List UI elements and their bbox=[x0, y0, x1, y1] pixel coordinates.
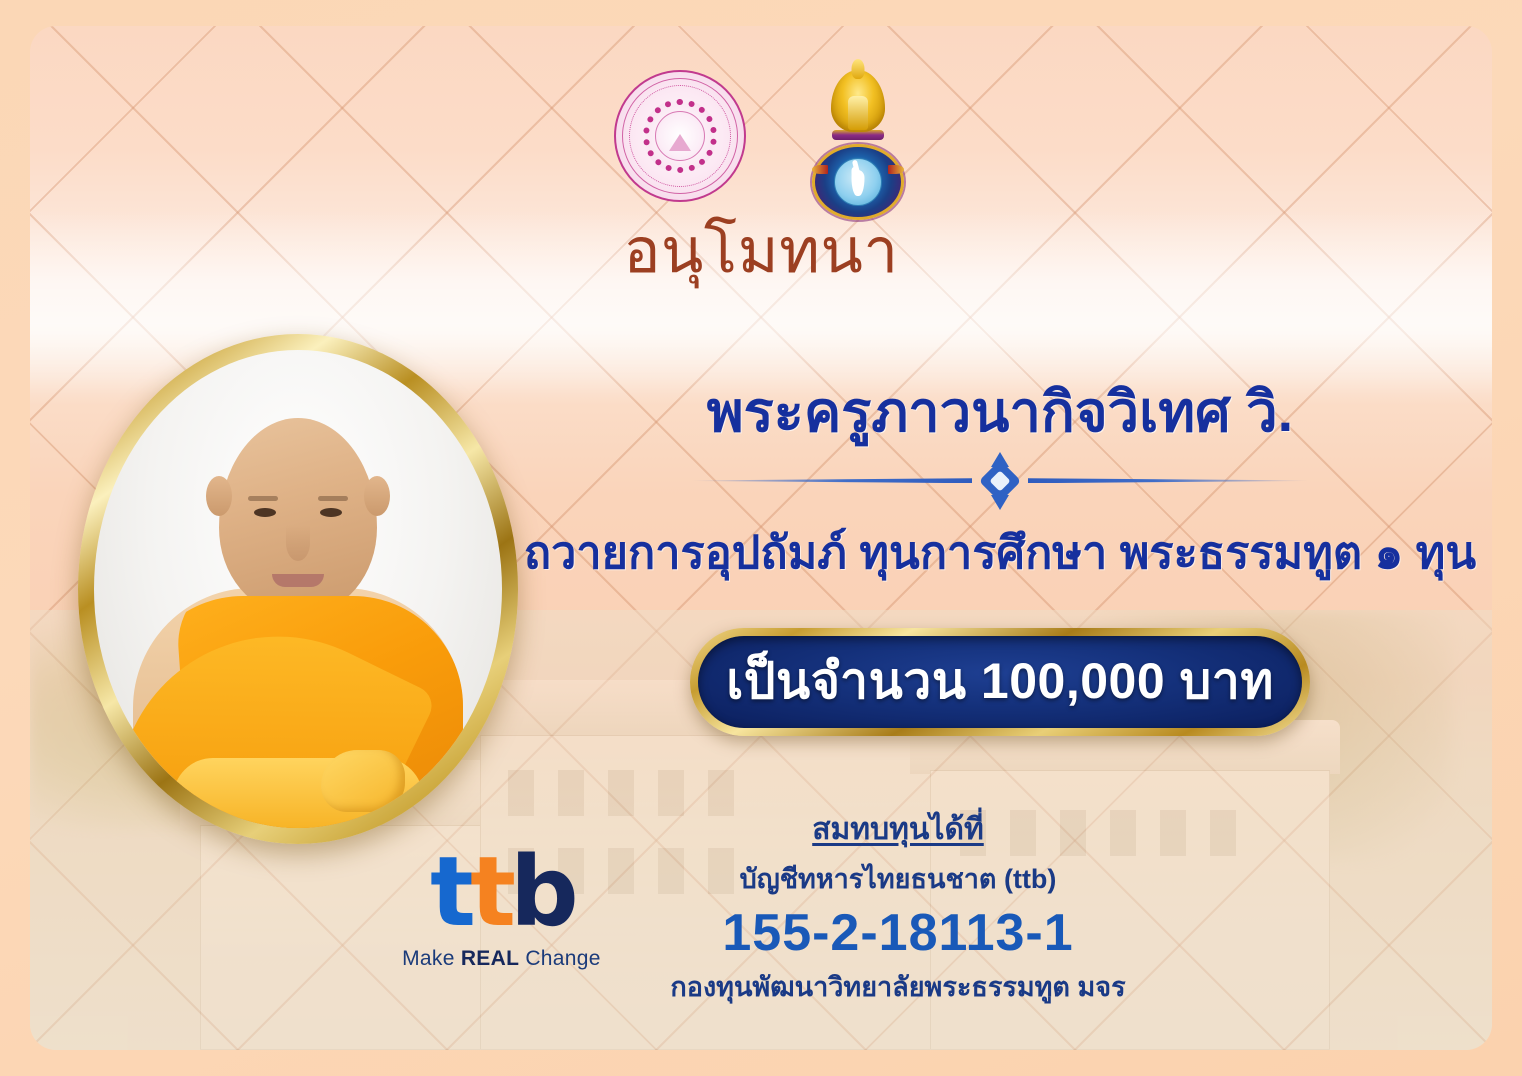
ornamental-divider bbox=[500, 458, 1492, 504]
donation-details: สมทบทุนได้ที่ บัญชีทหารไทยธนชาต (ttb) 15… bbox=[670, 806, 1125, 1008]
honoree-name: พระครูภาวนากิจวิเทศ วิ. bbox=[500, 381, 1492, 444]
amount-badge-inner: เป็นจำนวน 100,000 บาท bbox=[698, 636, 1302, 728]
citation-column: พระครูภาวนากิจวิเทศ วิ. ถวายการอุปถัมภ์ … bbox=[500, 381, 1492, 736]
amount-text: เป็นจำนวน 100,000 บาท bbox=[726, 642, 1274, 721]
ttb-bank-logo: ttb Make REAL Change bbox=[396, 843, 606, 971]
donation-footer: ttb Make REAL Change สมทบทุนได้ที่ บัญชี… bbox=[30, 806, 1492, 1008]
monk-portrait bbox=[78, 334, 518, 844]
mcu-university-seal-icon bbox=[614, 70, 746, 202]
ttb-tagline-real: REAL bbox=[461, 947, 519, 970]
mcu-seal-core bbox=[655, 111, 705, 161]
ttb-letter-t1: t bbox=[430, 836, 470, 948]
emblem-core bbox=[834, 158, 882, 206]
emblem-wing-left bbox=[812, 165, 828, 174]
swan-icon bbox=[852, 170, 865, 196]
divider-diamond-icon bbox=[978, 453, 1022, 509]
portrait-photo bbox=[94, 350, 502, 828]
account-number: 155-2-18113-1 bbox=[670, 906, 1125, 961]
ttb-wordmark: ttb bbox=[396, 849, 606, 935]
certificate-poster: อนุโมทนา bbox=[0, 0, 1522, 1076]
ttb-tagline-change: Change bbox=[519, 947, 601, 970]
dhammaduta-college-emblem-icon bbox=[808, 70, 908, 220]
poster-card: อนุโมทนา bbox=[30, 26, 1492, 1050]
bank-name: บัญชีทหารไทยธนชาต (ttb) bbox=[670, 857, 1125, 900]
mcu-seal-inner-ring bbox=[643, 99, 717, 173]
divider-line-left bbox=[692, 478, 972, 483]
emblem-row bbox=[30, 70, 1492, 220]
mcu-seal-ring-text bbox=[616, 72, 744, 200]
amount-badge: เป็นจำนวน 100,000 บาท bbox=[690, 628, 1310, 736]
divider-line-right bbox=[1028, 478, 1308, 483]
ttb-tagline: Make REAL Change bbox=[396, 947, 606, 971]
emblem-disc bbox=[812, 144, 904, 220]
donate-title: สมทบทุนได้ที่ bbox=[670, 806, 1125, 853]
crown-icon bbox=[831, 70, 885, 132]
ttb-letter-t2: t bbox=[470, 836, 510, 948]
page-title: อนุโมทนา bbox=[30, 221, 1492, 283]
ttb-tagline-make: Make bbox=[402, 947, 461, 970]
amount-badge-wrap: เป็นจำนวน 100,000 บาท bbox=[500, 628, 1492, 736]
emblem-wing-right bbox=[888, 165, 904, 174]
ttb-letter-b: b bbox=[510, 836, 573, 948]
fund-name: กองทุนพัฒนาวิทยาลัยพระธรรมทูต มจร bbox=[670, 965, 1125, 1008]
donation-purpose: ถวายการอุปถัมภ์ ทุนการศึกษา พระธรรมทูต ๑… bbox=[500, 516, 1492, 588]
